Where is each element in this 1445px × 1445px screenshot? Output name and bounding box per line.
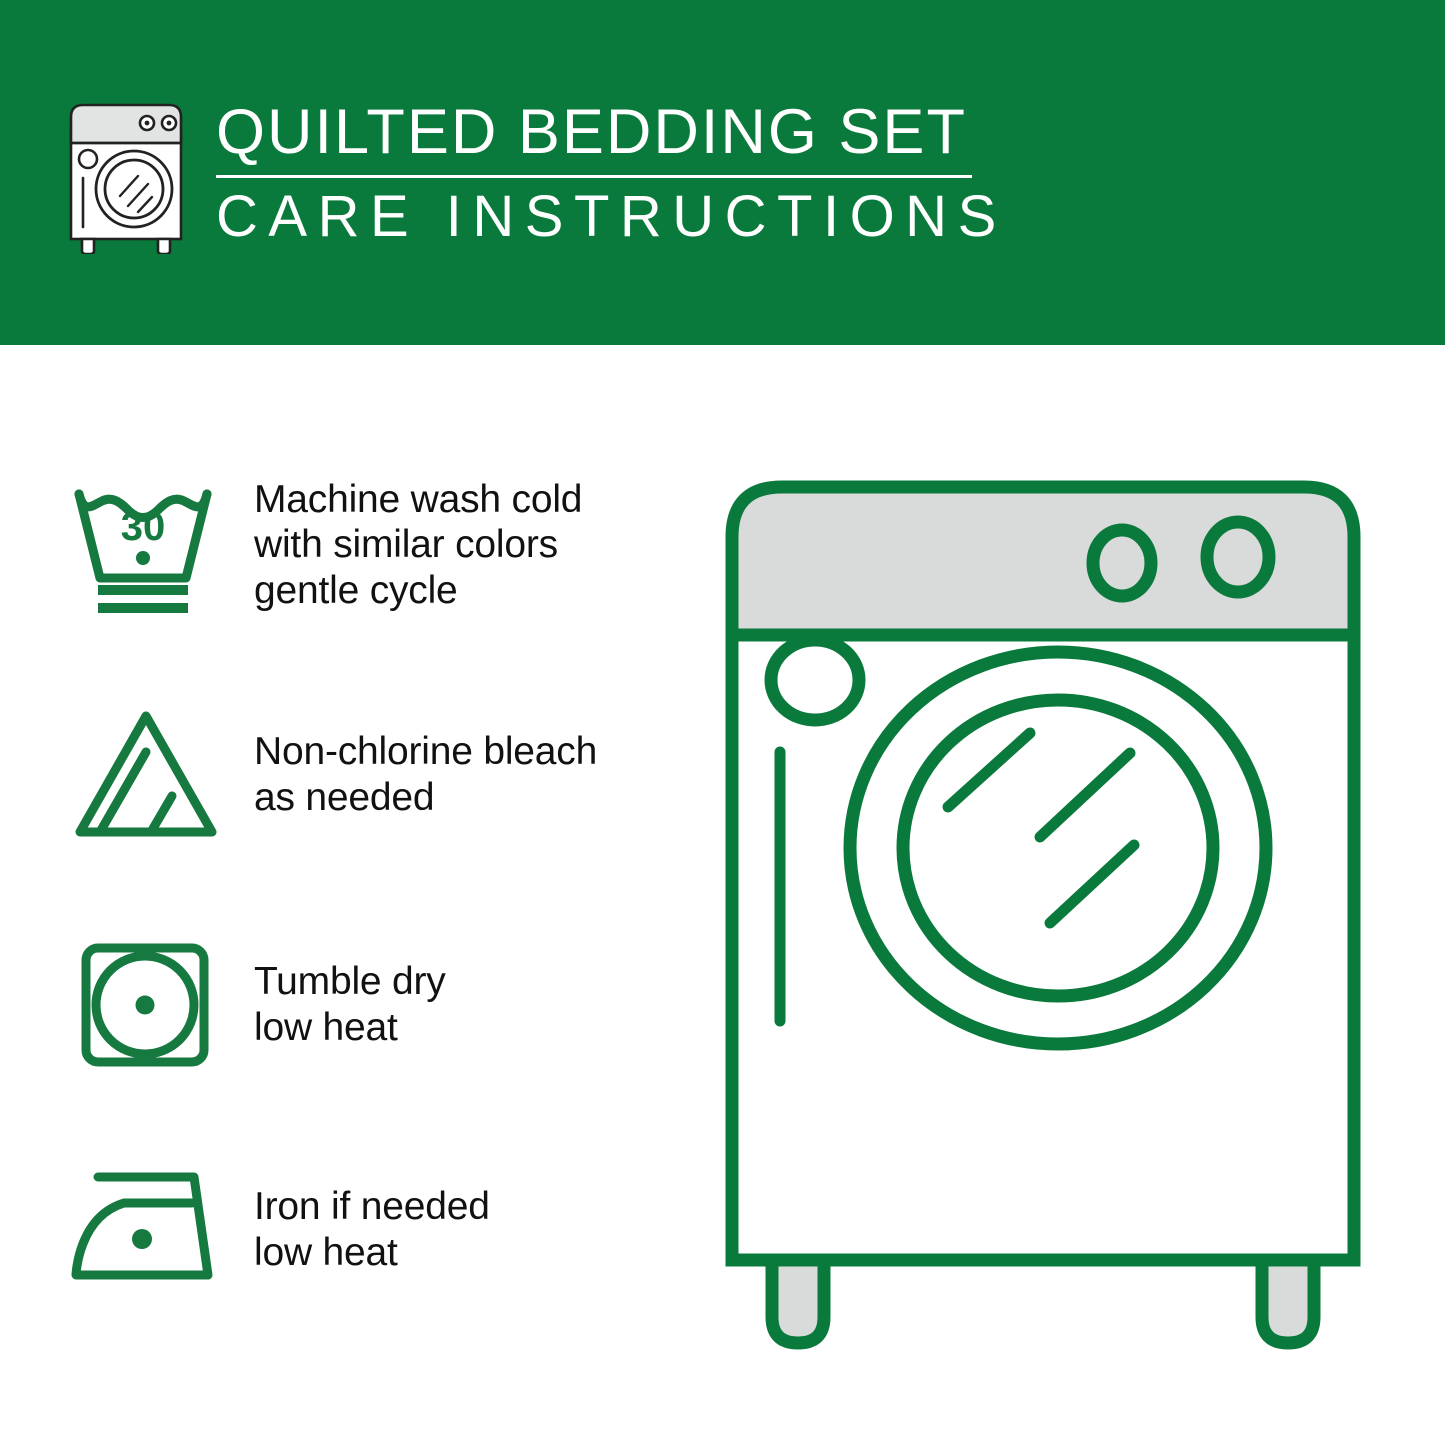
washing-machine-illustration: [710, 465, 1410, 1365]
title-divider: [216, 175, 972, 178]
dry-heat-dot: [136, 996, 155, 1015]
care-row-iron: Iron if needed low heat: [62, 1155, 682, 1305]
care-line: Iron if needed: [254, 1184, 490, 1230]
machine-leg-left: [772, 1260, 824, 1343]
care-row-machine-wash: 30 Machine wash cold with similar colors…: [62, 470, 682, 620]
care-row-tumble-dry: Tumble dry low heat: [62, 930, 682, 1080]
wash-temperature-label: 30: [121, 505, 166, 549]
care-row-bleach: Non-chlorine bleach as needed: [62, 700, 682, 850]
care-line: Machine wash cold: [254, 477, 582, 523]
care-line: Tumble dry: [254, 959, 446, 1005]
page-title: QUILTED BEDDING SET: [216, 100, 1007, 164]
care-line: as needed: [254, 775, 597, 821]
tumble-dry-low-icon: [62, 930, 230, 1080]
front-load-washing-machine-graphic: [710, 465, 1410, 1365]
header-band: QUILTED BEDDING SET CARE INSTRUCTIONS: [0, 0, 1445, 345]
care-line: low heat: [254, 1005, 446, 1051]
non-chlorine-bleach-triangle-icon: [62, 700, 230, 850]
care-text-iron: Iron if needed low heat: [254, 1184, 490, 1275]
care-instructions-infographic: QUILTED BEDDING SET CARE INSTRUCTIONS 30: [0, 0, 1445, 1445]
care-text-tumble-dry: Tumble dry low heat: [254, 959, 446, 1050]
care-line: low heat: [254, 1230, 490, 1276]
care-instruction-list: 30 Machine wash cold with similar colors…: [0, 345, 700, 1445]
page-subtitle: CARE INSTRUCTIONS: [216, 187, 1007, 248]
control-panel: [732, 487, 1354, 635]
iron-low-heat-icon: [62, 1155, 230, 1305]
washing-machine-icon: [62, 96, 190, 254]
care-line: Non-chlorine bleach: [254, 729, 597, 775]
header-content: QUILTED BEDDING SET CARE INSTRUCTIONS: [62, 96, 1007, 254]
care-text-machine-wash: Machine wash cold with similar colors ge…: [254, 477, 582, 614]
iron-heat-dot: [132, 1229, 152, 1249]
wash-tub-30-icon: 30: [62, 470, 230, 620]
care-line: gentle cycle: [254, 568, 582, 614]
machine-leg-right: [1262, 1260, 1314, 1343]
care-line: with similar colors: [254, 522, 582, 568]
care-text-bleach: Non-chlorine bleach as needed: [254, 729, 597, 820]
wash-dot: [136, 551, 150, 565]
header-title-group: QUILTED BEDDING SET CARE INSTRUCTIONS: [216, 96, 1007, 248]
